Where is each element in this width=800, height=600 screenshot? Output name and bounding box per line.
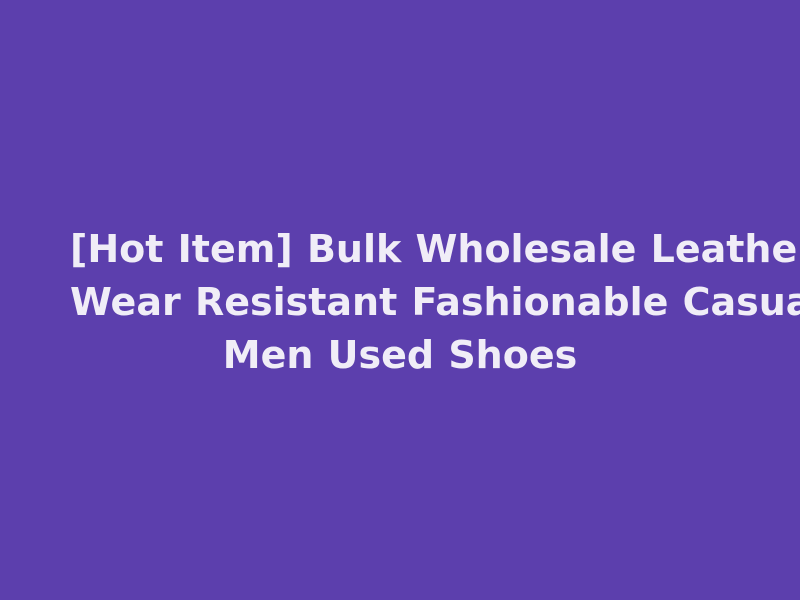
product-title-card: [Hot Item] Bulk Wholesale Leather Wear R… <box>0 0 800 600</box>
page-title: [Hot Item] Bulk Wholesale Leather Wear R… <box>70 223 730 382</box>
page-title-line-3: Men Used Shoes <box>70 329 730 382</box>
page-title-line-2: Wear Resistant Fashionable Casual <box>70 276 730 329</box>
page-title-line-1: [Hot Item] Bulk Wholesale Leather <box>70 223 730 276</box>
title-block: [Hot Item] Bulk Wholesale Leather Wear R… <box>70 223 730 382</box>
